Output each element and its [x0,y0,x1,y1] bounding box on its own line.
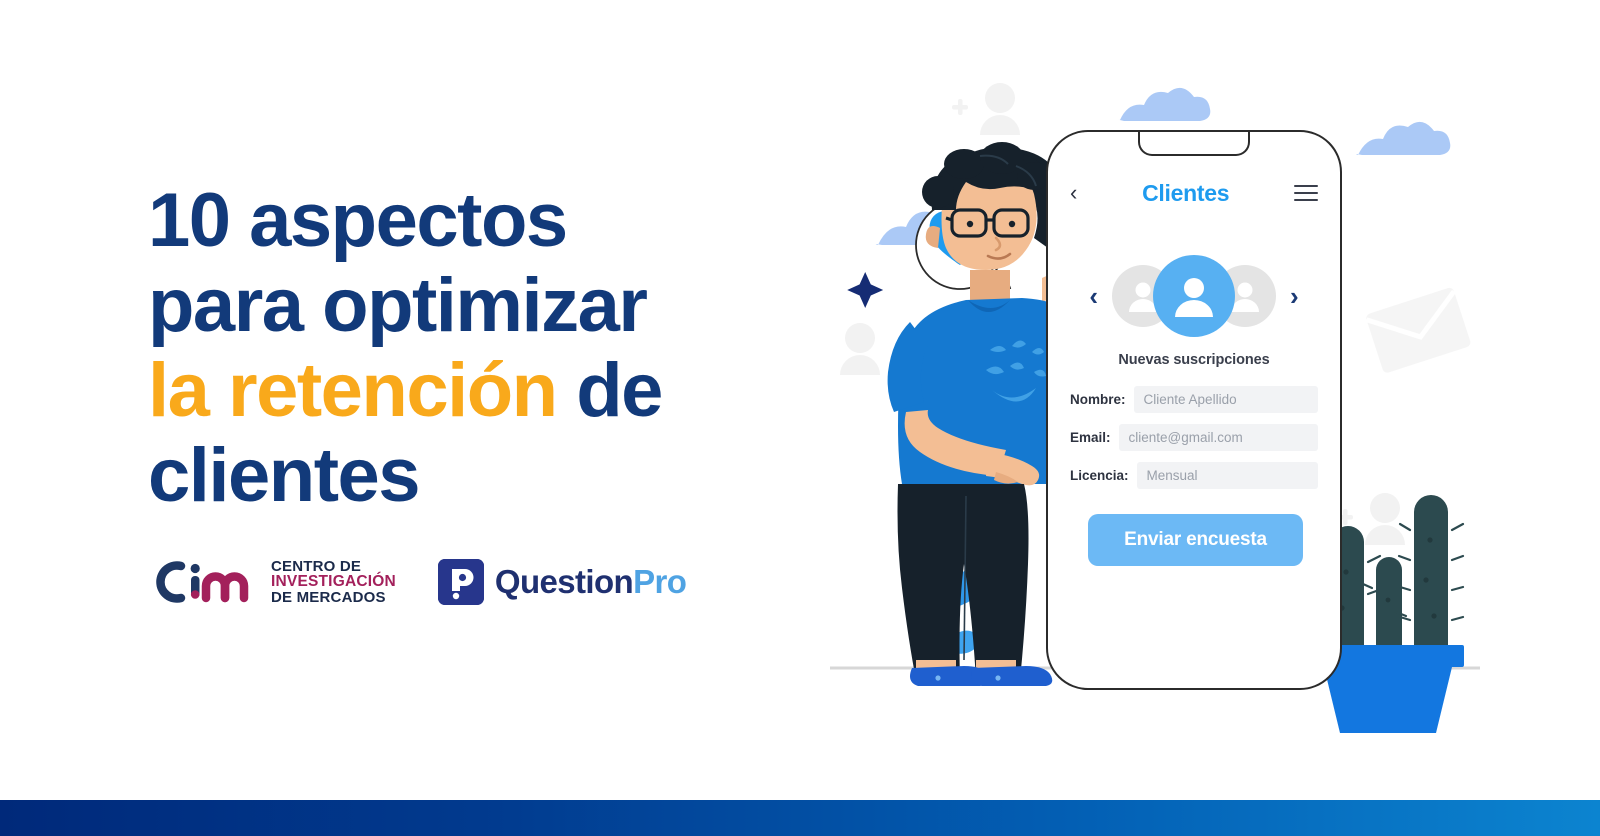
subscription-form: Nombre: Cliente Apellido Email: cliente@… [1048,386,1340,500]
questionpro-wordmark: QuestionPro [495,563,686,601]
submit-survey-button[interactable]: Enviar encuesta [1088,514,1303,566]
back-icon[interactable]: ‹ [1070,182,1077,204]
hamburger-menu-icon[interactable] [1294,185,1318,201]
logo-row: CENTRO DE INVESTIGACIÓN DE MERCADOS Ques… [150,556,686,608]
cim-wordmark: CENTRO DE INVESTIGACIÓN DE MERCADOS [271,559,396,606]
input-email[interactable]: cliente@gmail.com [1119,424,1318,451]
banner-canvas: 10 aspectos para optimizar la retención … [0,0,1600,836]
label-licencia: Licencia: [1070,468,1129,483]
label-nombre: Nombre: [1070,392,1126,407]
label-email: Email: [1070,430,1111,445]
cim-logo: CENTRO DE INVESTIGACIÓN DE MERCADOS [150,556,396,608]
form-row-nombre: Nombre: Cliente Apellido [1070,386,1318,413]
phone-notch [1138,130,1250,156]
phone-mockup: ‹ Clientes ‹ › Nuevas suscripciones [1046,130,1342,690]
questionpro-mark-icon [438,559,484,605]
questionpro-word-pro: Pro [633,563,686,600]
carousel-avatars [1104,250,1284,342]
headline-line-3-rest: de [557,348,662,433]
input-nombre[interactable]: Cliente Apellido [1134,386,1318,413]
headline-line-2: para optimizar [148,263,848,348]
cim-line-2: INVESTIGACIÓN [271,574,396,590]
headline-accent: la retención [148,348,557,433]
headline-line-3: la retención de [148,348,848,433]
avatar-active[interactable] [1153,255,1235,337]
page-title: 10 aspectos para optimizar la retención … [148,178,848,518]
headline-line-4: clientes [148,433,848,518]
app-header: ‹ Clientes [1048,176,1340,210]
headline-line-1: 10 aspectos [148,178,848,263]
cim-line-3: DE MERCADOS [271,590,396,605]
section-label: Nuevas suscripciones [1048,352,1340,368]
avatar-carousel: ‹ › [1048,250,1340,342]
form-row-licencia: Licencia: Mensual [1070,462,1318,489]
app-title: Clientes [1142,180,1229,207]
carousel-next-icon[interactable]: › [1284,283,1305,309]
envelope-icon [1365,287,1472,374]
cim-line-1: CENTRO DE [271,559,396,574]
cim-logomark-icon [150,556,262,608]
input-licencia[interactable]: Mensual [1137,462,1318,489]
footer-bar [0,800,1600,836]
carousel-prev-icon[interactable]: ‹ [1083,283,1104,309]
questionpro-logo: QuestionPro [438,559,686,605]
form-row-email: Email: cliente@gmail.com [1070,424,1318,451]
questionpro-word-question: Question [495,563,633,600]
